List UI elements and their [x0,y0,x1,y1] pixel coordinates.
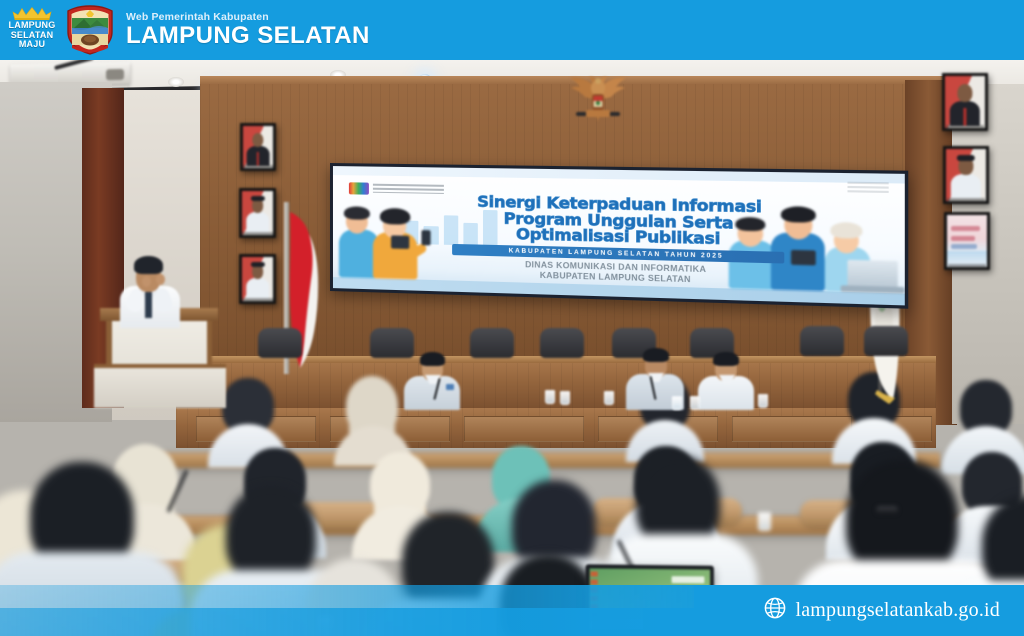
lampung-selatan-regency-crest-icon[interactable] [64,4,116,56]
audience-member [226,486,316,584]
drinking-glass [672,396,682,410]
audience-member [30,462,134,572]
panelist-right [698,356,754,408]
projector-lens [106,69,124,80]
website-url: lampungselatankab.go.id [795,599,1000,622]
drinking-glass [604,391,614,405]
panel-chair [258,328,302,358]
site-footer-bar: lampungselatankab.go.id [0,585,1024,636]
lampung-selatan-maju-logo[interactable]: LAMPUNG SELATAN MAJU [4,7,60,53]
globe-icon [764,597,786,624]
portrait-president [240,123,276,171]
portrait-regent [239,254,276,304]
drinking-glass [758,394,768,408]
projection-screen[interactable]: Sinergi Keterpaduan Informasi Program Un… [330,163,908,309]
panel-chair [370,328,414,358]
panel-chair [540,328,584,358]
desk-front-panel [732,416,852,442]
portrait-president [942,73,988,131]
drinking-glass [690,396,700,410]
desktop-window [672,576,705,583]
panelist-left [404,356,460,408]
meeting-room-photo: Sinergi Keterpaduan Informasi Program Un… [0,60,1024,636]
slide-content: Sinergi Keterpaduan Informasi Program Un… [333,166,905,305]
portrait-governor [239,188,276,238]
panel-chair [800,326,844,356]
drinking-glass [560,391,570,405]
audience-member [846,460,958,578]
logo-line-3: MAJU [9,40,56,50]
drinking-glass [545,390,555,404]
slide-top-strip [333,166,905,184]
screenshot-root: LAMPUNG SELATAN MAJU Web Pe [0,0,1024,636]
audience-member [636,456,720,548]
panel-chair [864,326,908,356]
slide-title: Sinergi Keterpaduan Informasi Program Un… [413,193,831,250]
audience-member-hijab [370,452,430,516]
audience-member [960,380,1012,436]
audience-member [222,378,274,434]
header-title: LAMPUNG SELATAN [126,24,370,48]
site-header-bar: LAMPUNG SELATAN MAJU Web Pe [0,0,1024,60]
microphone-base [876,506,898,514]
header-subtitle: Web Pemerintah Kabupaten [126,12,370,23]
logo-badge-text: LAMPUNG SELATAN MAJU [9,21,56,50]
slide-logo-icon [349,182,369,194]
portrait-governor [943,146,989,204]
header-title-block: Web Pemerintah Kabupaten LAMPUNG SELATAN [126,12,370,49]
speaker-at-podium [112,252,190,322]
drinking-glass [758,512,771,531]
desk-front-panel [464,416,584,442]
garuda-pancasila-icon [556,74,640,126]
crown-icon [12,7,52,20]
slide-banner-text: KABUPATEN LAMPUNG SELATAN TAHUN 2025 [509,247,724,260]
audience-member-hijab [346,376,398,436]
panel-chair [470,328,514,358]
portrait-poster [944,212,990,270]
ceiling-downlight [168,77,184,87]
slide-secondary-logo-icon [847,182,888,196]
audience-member [982,496,1024,594]
website-link[interactable]: lampungselatankab.go.id [764,597,1000,624]
